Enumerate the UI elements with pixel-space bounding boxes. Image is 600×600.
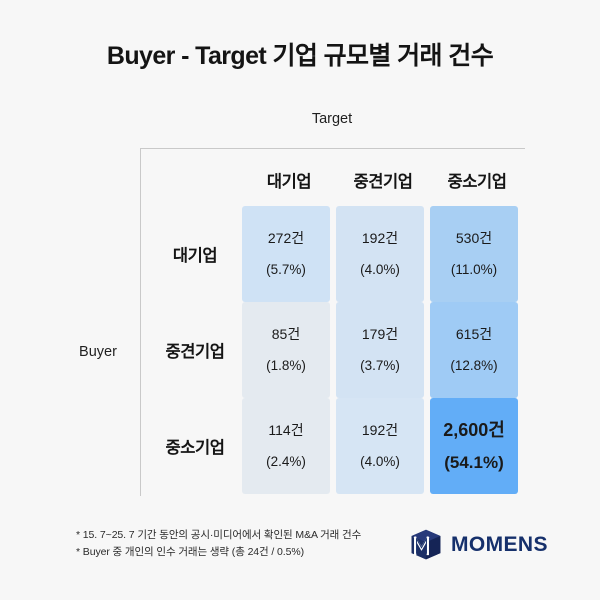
heatmap-grid: 272건 (5.7%) 192건 (4.0%) 530건 (11.0%) 85건… — [242, 206, 524, 494]
cell-percent: (5.7%) — [266, 263, 306, 277]
heatmap-cell: 85건 (1.8%) — [242, 302, 330, 398]
column-header-midsize: 중견기업 — [336, 168, 430, 192]
cell-count: 192건 — [362, 231, 398, 245]
cell-count: 530건 — [456, 231, 492, 245]
row-header-large: 대기업 — [150, 206, 240, 302]
page-title: Buyer - Target 기업 규모별 거래 건수 — [0, 36, 600, 72]
cell-count: 192건 — [362, 423, 398, 437]
cell-percent: (4.0%) — [360, 455, 400, 469]
column-header-large: 대기업 — [242, 168, 336, 192]
heatmap-cell-highlighted: 2,600건 (54.1%) — [430, 398, 518, 494]
cell-count: 179건 — [362, 327, 398, 341]
heatmap-row: 85건 (1.8%) 179건 (3.7%) 615건 (12.8%) — [242, 302, 524, 398]
heatmap-cell: 530건 (11.0%) — [430, 206, 518, 302]
frame-top-divider — [140, 148, 525, 149]
column-header-row: 대기업 중견기업 중소기업 — [242, 168, 524, 192]
logo-text: MOMENS — [451, 533, 548, 557]
cell-percent: (2.4%) — [266, 455, 306, 469]
cell-percent: (4.0%) — [360, 263, 400, 277]
footnote-block: * 15. 7~25. 7 기간 동안의 공시·미디어에서 확인된 M&A 거래… — [76, 527, 361, 561]
cell-count: 615건 — [456, 327, 492, 341]
heatmap-cell: 192건 (4.0%) — [336, 398, 424, 494]
column-header-small: 중소기업 — [430, 168, 524, 192]
footnote-exclusion: * Buyer 중 개인의 인수 거래는 생략 (총 24건 / 0.5%) — [76, 544, 361, 561]
row-header-small: 중소기업 — [150, 398, 240, 494]
heatmap-row: 272건 (5.7%) 192건 (4.0%) 530건 (11.0%) — [242, 206, 524, 302]
heatmap-cell: 272건 (5.7%) — [242, 206, 330, 302]
cell-percent: (12.8%) — [450, 359, 497, 373]
row-header-midsize: 중견기업 — [150, 302, 240, 398]
cell-count: 114건 — [268, 423, 303, 437]
cell-count: 2,600건 — [443, 421, 505, 439]
heatmap-cell: 179건 (3.7%) — [336, 302, 424, 398]
heatmap-row: 114건 (2.4%) 192건 (4.0%) 2,600건 (54.1%) — [242, 398, 524, 494]
cell-percent: (11.0%) — [451, 263, 497, 277]
heatmap-cell: 192건 (4.0%) — [336, 206, 424, 302]
cube-m-icon — [408, 527, 444, 563]
cell-count: 85건 — [272, 327, 300, 341]
cell-percent: (54.1%) — [444, 454, 504, 471]
cell-count: 272건 — [268, 231, 304, 245]
frame-left-divider — [140, 148, 141, 496]
column-axis-label: Target — [140, 111, 524, 127]
brand-logo: MOMENS — [408, 527, 548, 563]
heatmap-cell: 114건 (2.4%) — [242, 398, 330, 494]
row-header-column: 대기업 중견기업 중소기업 — [150, 206, 240, 494]
cell-percent: (1.8%) — [266, 359, 306, 373]
heatmap-cell: 615건 (12.8%) — [430, 302, 518, 398]
footnote-source: * 15. 7~25. 7 기간 동안의 공시·미디어에서 확인된 M&A 거래… — [76, 527, 361, 544]
row-axis-label: Buyer — [58, 344, 138, 360]
cell-percent: (3.7%) — [360, 359, 400, 373]
